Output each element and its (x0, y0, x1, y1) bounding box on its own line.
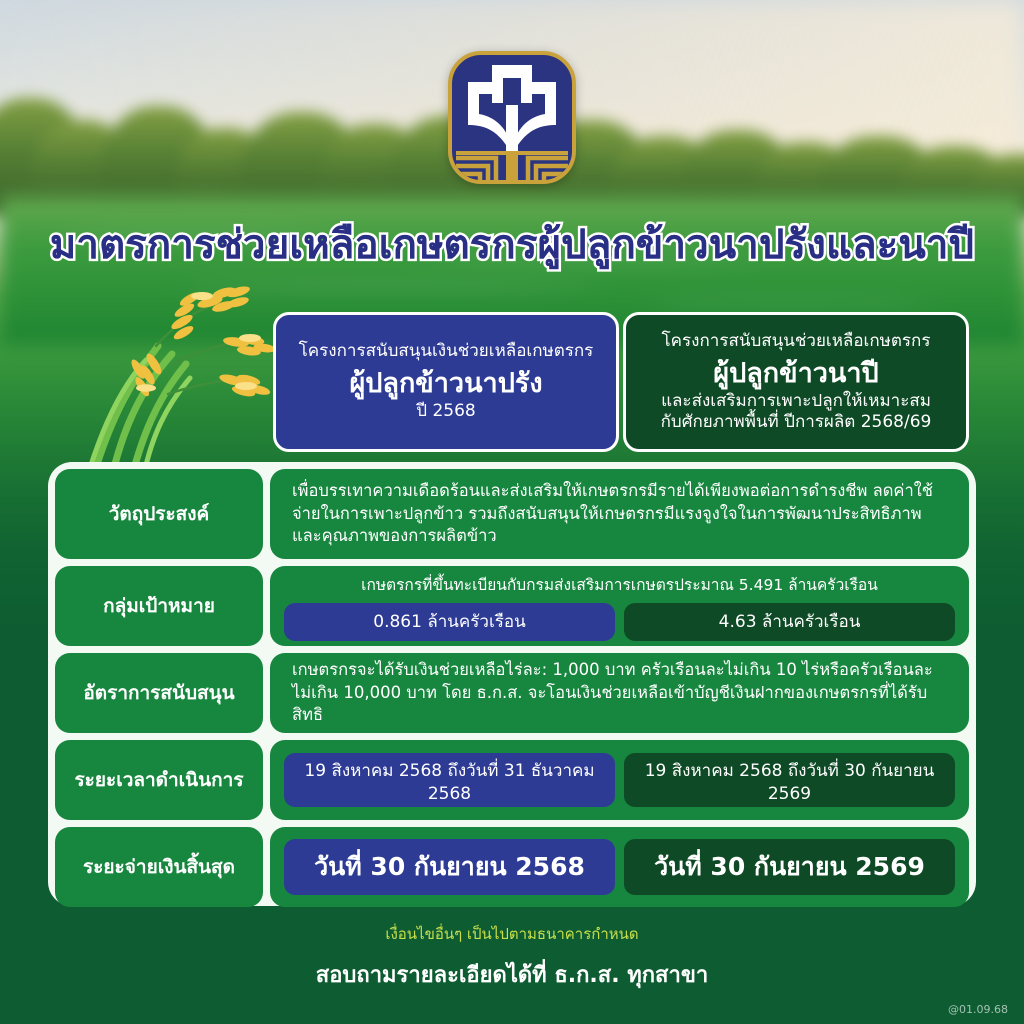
card-line-3: และส่งเสริมการเพาะปลูกให้เหมาะสม (661, 391, 931, 412)
support-rate-text: เกษตรกรจะได้รับเงินช่วยเหลือไร่ละ: 1,000… (292, 659, 947, 727)
table-row: วัตถุประสงค์ เพื่อบรรเทาความเดือดร้อนและ… (55, 469, 969, 559)
row-label-objective: วัตถุประสงค์ (55, 469, 263, 559)
row-label-final-payment: ระยะจ่ายเงินสิ้นสุด (55, 827, 263, 907)
objective-text: เพื่อบรรเทาความเดือดร้อนและส่งเสริมให้เก… (292, 480, 947, 548)
row-content-target-group: เกษตรกรที่ขึ้นทะเบียนกับกรมส่งเสริมการเก… (270, 566, 969, 646)
watermark-date: @01.09.68 (948, 1003, 1008, 1016)
card-line-4: กับศักยภาพพื้นที่ ปีการผลิต 2568/69 (661, 412, 932, 433)
table-row: ระยะจ่ายเงินสิ้นสุด วันที่ 30 กันยายน 25… (55, 827, 969, 907)
final-payment-na-pi[interactable]: วันที่ 30 กันยายน 2569 (624, 839, 955, 895)
target-group-na-prang[interactable]: 0.861 ล้านครัวเรือน (284, 603, 615, 641)
footer: เงื่อนไขอื่นๆ เป็นไปตามธนาคารกำหนด สอบถา… (0, 922, 1024, 992)
period-split: 19 สิงหาคม 2568 ถึงวันที่ 31 ธันวาคม 256… (284, 753, 955, 807)
target-group-lead: เกษตรกรที่ขึ้นทะเบียนกับกรมส่งเสริมการเก… (284, 572, 955, 597)
final-payment-split: วันที่ 30 กันยายน 2568 วันที่ 30 กันยายน… (284, 839, 955, 895)
row-content-support-rate: เกษตรกรจะได้รับเงินช่วยเหลือไร่ละ: 1,000… (270, 653, 969, 733)
row-label-period: ระยะเวลาดำเนินการ (55, 740, 263, 820)
row-content-objective: เพื่อบรรเทาความเดือดร้อนและส่งเสริมให้เก… (270, 469, 969, 559)
baac-logo (448, 51, 576, 184)
card-line-2: ผู้ปลูกข้าวนาปี (713, 356, 878, 391)
program-card-na-prang[interactable]: โครงการสนับสนุนเงินช่วยเหลือเกษตรกร ผู้ป… (273, 312, 619, 452)
card-line-1: โครงการสนับสนุนช่วยเหลือเกษตรกร (662, 331, 931, 352)
card-line-3: ปี 2568 (416, 401, 475, 422)
program-card-na-pi[interactable]: โครงการสนับสนุนช่วยเหลือเกษตรกร ผู้ปลูกข… (623, 312, 969, 452)
card-line-1: โครงการสนับสนุนเงินช่วยเหลือเกษตรกร (299, 341, 594, 362)
details-panel: วัตถุประสงค์ เพื่อบรรเทาความเดือดร้อนและ… (48, 462, 976, 906)
row-content-period: 19 สิงหาคม 2568 ถึงวันที่ 31 ธันวาคม 256… (270, 740, 969, 820)
period-na-pi[interactable]: 19 สิงหาคม 2568 ถึงวันที่ 30 กันยายน 256… (624, 753, 955, 807)
table-row: อัตราการสนับสนุน เกษตรกรจะได้รับเงินช่วย… (55, 653, 969, 733)
row-content-final-payment: วันที่ 30 กันยายน 2568 วันที่ 30 กันยายน… (270, 827, 969, 907)
baac-logo-mark (452, 55, 572, 180)
row-label-support-rate: อัตราการสนับสนุน (55, 653, 263, 733)
target-group-na-pi[interactable]: 4.63 ล้านครัวเรือน (624, 603, 955, 641)
final-payment-na-prang[interactable]: วันที่ 30 กันยายน 2568 (284, 839, 615, 895)
footer-contact: สอบถามรายละเอียดได้ที่ ธ.ก.ส. ทุกสาขา (0, 957, 1024, 992)
target-group-split: 0.861 ล้านครัวเรือน 4.63 ล้านครัวเรือน (284, 603, 955, 641)
period-na-prang[interactable]: 19 สิงหาคม 2568 ถึงวันที่ 31 ธันวาคม 256… (284, 753, 615, 807)
page-title: มาตรการช่วยเหลือเกษตรกรผู้ปลูกข้าวนาปรัง… (0, 212, 1024, 276)
footer-conditions: เงื่อนไขอื่นๆ เป็นไปตามธนาคารกำหนด (0, 922, 1024, 946)
table-row: กลุ่มเป้าหมาย เกษตรกรที่ขึ้นทะเบียนกับกร… (55, 566, 969, 646)
table-row: ระยะเวลาดำเนินการ 19 สิงหาคม 2568 ถึงวัน… (55, 740, 969, 820)
row-label-target-group: กลุ่มเป้าหมาย (55, 566, 263, 646)
program-cards: โครงการสนับสนุนเงินช่วยเหลือเกษตรกร ผู้ป… (0, 312, 1024, 454)
card-line-2: ผู้ปลูกข้าวนาปรัง (349, 366, 542, 401)
